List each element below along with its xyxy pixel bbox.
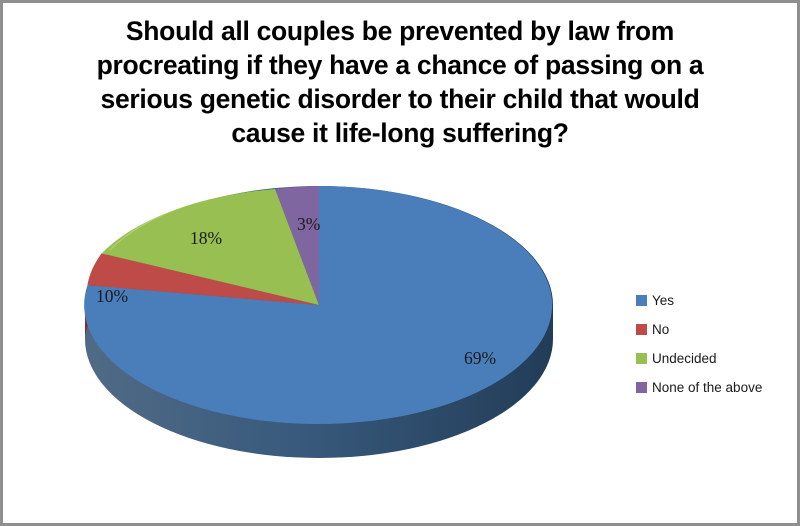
legend-item-undecided[interactable]: Undecided xyxy=(636,344,788,373)
legend-item-yes[interactable]: Yes xyxy=(636,286,788,315)
legend-swatch-none-of-the-above xyxy=(636,382,647,393)
data-label-no: 10% xyxy=(96,286,128,307)
pie-svg xyxy=(0,0,640,526)
legend-label-undecided: Undecided xyxy=(652,351,717,366)
legend-swatch-yes xyxy=(636,295,647,306)
pie-chart-image: Should all couples be prevented by law f… xyxy=(0,0,800,526)
pie-plot-area: 69% 10% 18% 3% xyxy=(0,0,640,526)
chart-legend: Yes No Undecided None of the above xyxy=(636,286,788,402)
legend-swatch-undecided xyxy=(636,353,647,364)
legend-label-none-of-the-above: None of the above xyxy=(652,380,762,395)
legend-item-no[interactable]: No xyxy=(636,315,788,344)
legend-item-none-of-the-above[interactable]: None of the above xyxy=(636,373,788,402)
legend-label-yes: Yes xyxy=(652,293,674,308)
legend-swatch-no xyxy=(636,324,647,335)
legend-label-no: No xyxy=(652,322,669,337)
data-label-yes: 69% xyxy=(464,348,496,369)
data-label-undecided: 18% xyxy=(190,228,222,249)
data-label-none-of-the-above: 3% xyxy=(297,214,320,235)
